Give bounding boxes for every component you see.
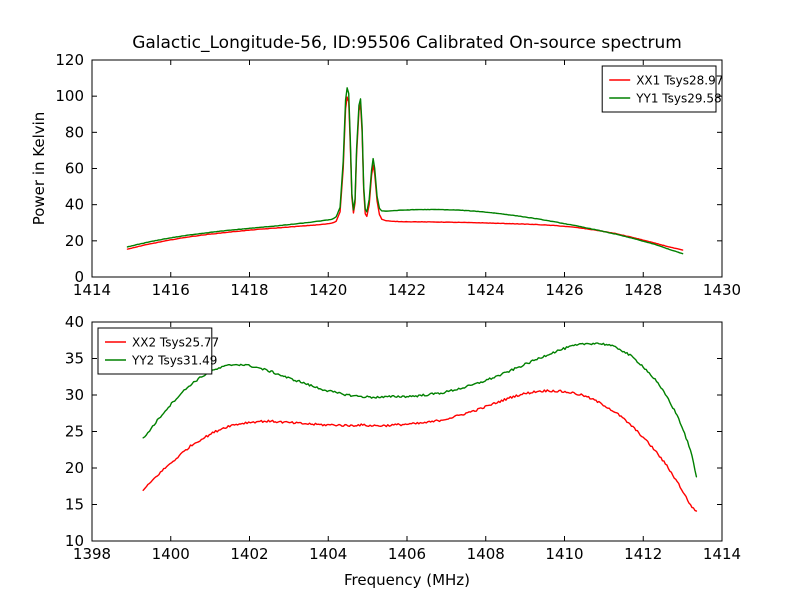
y-tick-label: 0 — [74, 268, 84, 286]
series-line-xx1 — [127, 97, 682, 250]
y-tick-label: 80 — [65, 123, 84, 141]
x-tick-label: 1414 — [703, 545, 741, 563]
x-tick-label: 1428 — [624, 281, 662, 299]
x-tick-label: 1412 — [624, 545, 662, 563]
x-tick-label: 1424 — [467, 281, 505, 299]
figure-canvas: 1414141614181420142214241426142814300204… — [0, 0, 800, 600]
y-tick-label: 60 — [65, 160, 84, 178]
y-tick-label: 10 — [65, 532, 84, 550]
x-tick-label: 1426 — [545, 281, 583, 299]
x-tick-label: 1422 — [388, 281, 426, 299]
y-tick-label: 25 — [65, 423, 84, 441]
y-tick-label: 100 — [55, 87, 84, 105]
x-tick-label: 1410 — [545, 545, 583, 563]
legend-label: YY1 Tsys29.58 — [635, 92, 721, 106]
x-tick-label: 1406 — [388, 545, 426, 563]
x-tick-label: 1430 — [703, 281, 741, 299]
y-tick-label: 15 — [65, 496, 84, 514]
x-tick-label: 1418 — [230, 281, 268, 299]
y-tick-label: 40 — [65, 313, 84, 331]
series-line-xx2 — [143, 390, 696, 511]
y-tick-label: 40 — [65, 196, 84, 214]
y-tick-label: 35 — [65, 350, 84, 368]
y-tick-label: 30 — [65, 386, 84, 404]
y-tick-label: 20 — [65, 232, 84, 250]
spectrum-figure: 1414141614181420142214241426142814300204… — [0, 0, 800, 600]
legend-label: XX2 Tsys25.77 — [132, 336, 219, 350]
y-axis-label: Power in Kelvin — [30, 112, 48, 226]
x-tick-label: 1402 — [230, 545, 268, 563]
x-tick-label: 1400 — [152, 545, 190, 563]
y-tick-label: 120 — [55, 51, 84, 69]
y-tick-label: 20 — [65, 459, 84, 477]
legend-label: YY2 Tsys31.49 — [131, 354, 217, 368]
x-tick-label: 1408 — [467, 545, 505, 563]
figure-title: Galactic_Longitude-56, ID:95506 Calibrat… — [132, 33, 682, 53]
axes-lower-spectrum: 1398140014021404140614081410141214141015… — [65, 313, 741, 589]
series-line-yy1 — [127, 88, 682, 254]
legend-lower-spectrum: XX2 Tsys25.77YY2 Tsys31.49 — [98, 328, 219, 374]
x-tick-label: 1404 — [309, 545, 347, 563]
legend-label: XX1 Tsys28.97 — [636, 74, 723, 88]
x-tick-label: 1420 — [309, 281, 347, 299]
x-tick-label: 1416 — [152, 281, 190, 299]
legend-upper-spectrum: XX1 Tsys28.97YY1 Tsys29.58 — [602, 66, 723, 112]
axes-upper-spectrum: 1414141614181420142214241426142814300204… — [30, 33, 741, 299]
x-axis-label: Frequency (MHz) — [344, 571, 470, 589]
series-line-yy2 — [143, 343, 696, 477]
